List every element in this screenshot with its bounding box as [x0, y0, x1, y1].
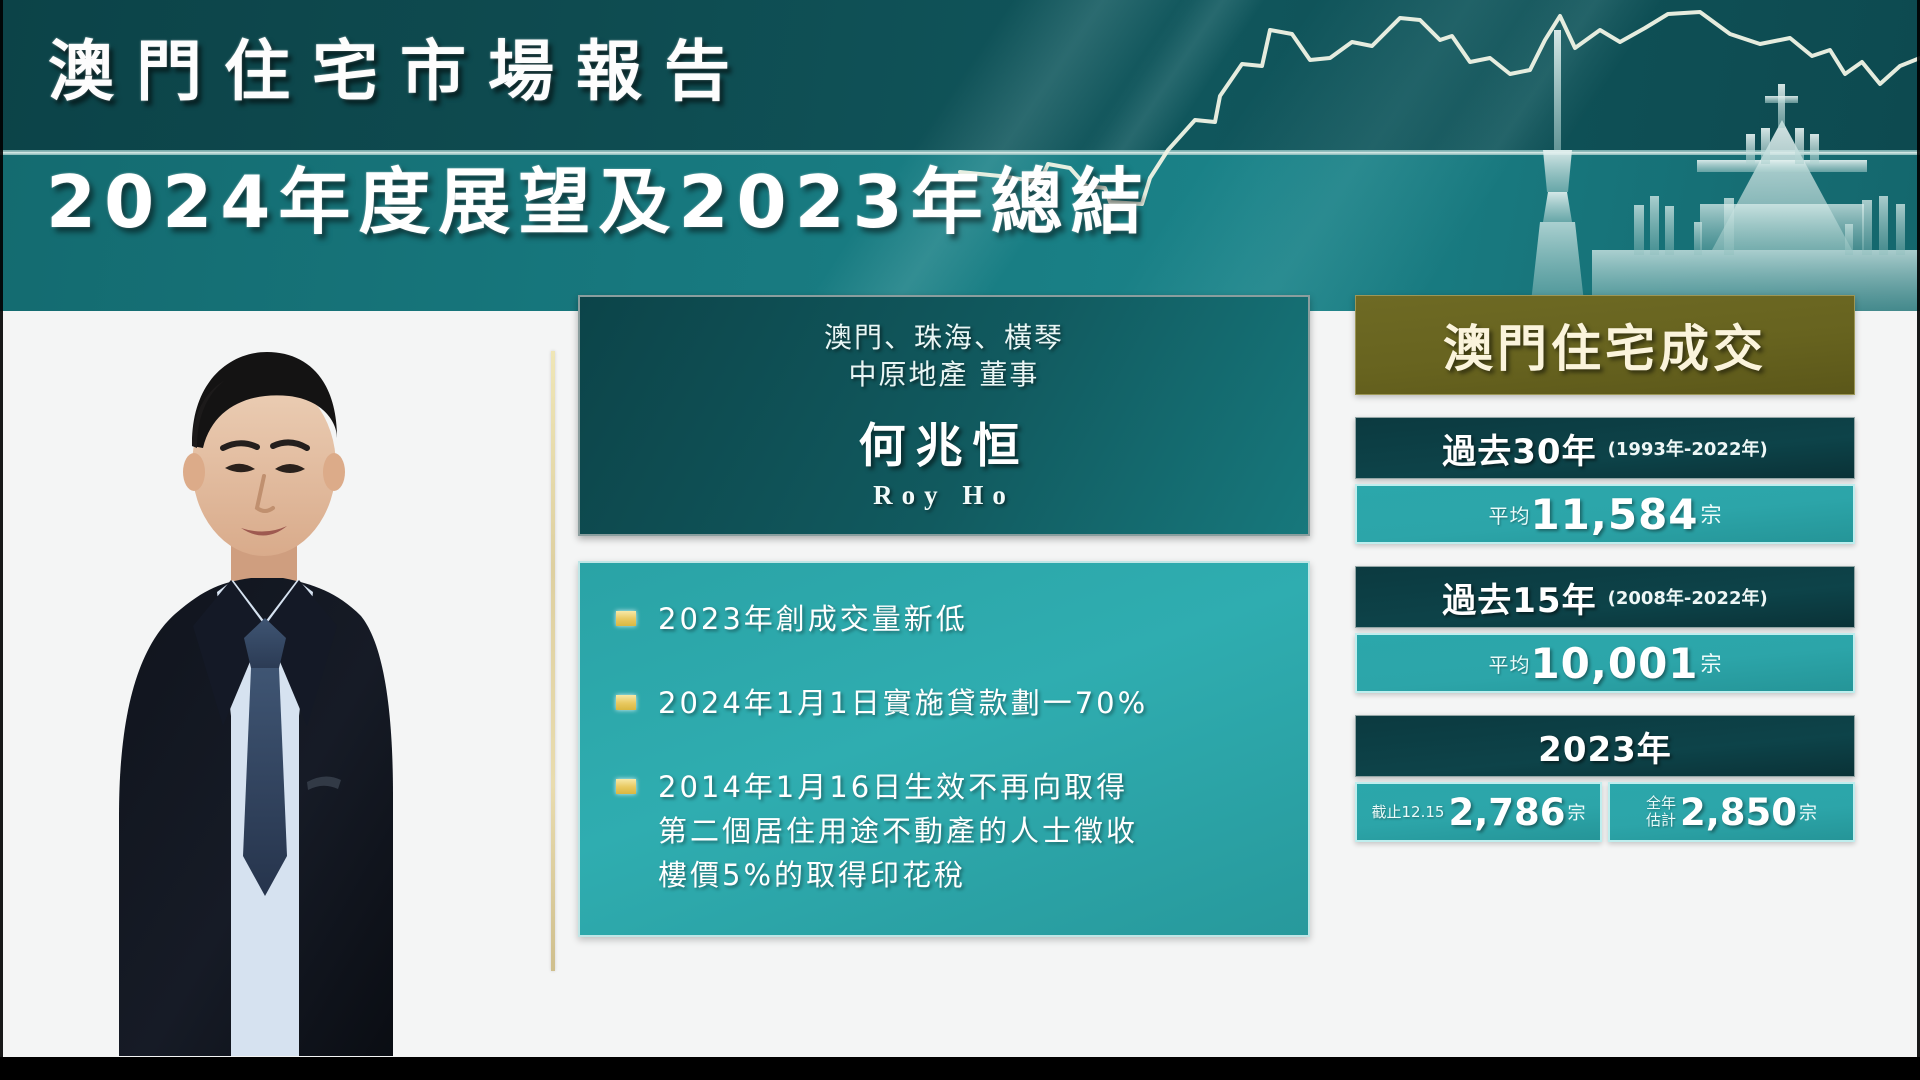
list-item: 2023年創成交量新低	[580, 597, 1308, 641]
page-title: 澳門住宅市場報告	[48, 18, 752, 114]
stat-group-30y: 過去30年 (1993年-2022年) 平均 11,584 宗	[1355, 417, 1855, 544]
list-item: 2014年1月16日生效不再向取得 第二個居住用途不動產的人士徵收 樓價5%的取…	[580, 765, 1308, 897]
stat-value-number: 10,001	[1530, 639, 1698, 688]
stat-period-label: 2023年	[1538, 722, 1672, 771]
stat-cell-label-line2: 估計	[1646, 812, 1676, 829]
speaker-org-line2: 中原地產 董事	[824, 357, 1064, 393]
stat-group-header: 過去15年 (2008年-2022年)	[1355, 566, 1855, 628]
stat-period-range: (2008年-2022年)	[1608, 584, 1768, 610]
stat-cell-unit: 宗	[1568, 799, 1586, 825]
stat-period-range: (1993年-2022年)	[1608, 435, 1768, 461]
stats-panel: 澳門住宅成交 過去30年 (1993年-2022年) 平均 11,584 宗 過…	[1355, 295, 1855, 842]
speaker-card: 澳門、珠海、橫琴 中原地產 董事 何兆恒 Roy Ho	[578, 295, 1310, 536]
stat-cell-label-line1: 截止12.15	[1372, 804, 1445, 821]
stat-value-row: 平均 11,584 宗	[1355, 484, 1855, 544]
letterbox-left	[0, 0, 3, 1080]
stat-group-header: 2023年	[1355, 715, 1855, 777]
stat-cell-label: 截止12.15	[1372, 804, 1445, 821]
ruins-of-st-pauls-silhouette	[1697, 84, 1867, 250]
slide-body: 澳門、珠海、橫琴 中原地產 董事 何兆恒 Roy Ho 2023年創成交量新低 …	[0, 311, 1920, 1057]
stat-value-unit: 宗	[1701, 648, 1722, 678]
stat-split-row: 截止12.15 2,786 宗 全年 估計 2,850 宗	[1355, 782, 1855, 842]
stat-value-label: 平均	[1488, 500, 1530, 529]
square-bullet-icon	[616, 611, 636, 626]
speaker-photo	[55, 296, 475, 1056]
stat-value-label: 平均	[1488, 649, 1530, 678]
stat-cell-unit: 宗	[1799, 799, 1817, 825]
speaker-name-en: Roy Ho	[873, 480, 1015, 511]
page-subtitle: 2024年度展望及2023年總結	[46, 143, 1151, 248]
key-points-card: 2023年創成交量新低 2024年1月1日實施貸款劃一70% 2014年1月16…	[578, 561, 1310, 937]
point-text: 2023年創成交量新低	[658, 597, 968, 641]
stat-value-row: 平均 10,001 宗	[1355, 633, 1855, 693]
stat-group-2023: 2023年 截止12.15 2,786 宗 全年 估計	[1355, 715, 1855, 842]
stat-group-header: 過去30年 (1993年-2022年)	[1355, 417, 1855, 479]
stat-cell-number: 2,786	[1448, 791, 1565, 834]
point-text: 2024年1月1日實施貸款劃一70%	[658, 681, 1148, 725]
stat-period-label: 過去30年	[1442, 424, 1596, 473]
square-bullet-icon	[616, 695, 636, 710]
slide-header: 澳門住宅市場報告 2024年度展望及2023年總結	[0, 0, 1920, 311]
square-bullet-icon	[616, 779, 636, 794]
stat-cell-forecast: 全年 估計 2,850 宗	[1608, 782, 1855, 842]
stat-group-15y: 過去15年 (2008年-2022年) 平均 10,001 宗	[1355, 566, 1855, 693]
speaker-org: 澳門、珠海、橫琴 中原地產 董事	[824, 320, 1064, 393]
macau-tower-silhouette	[1530, 30, 1585, 311]
stats-panel-title: 澳門住宅成交	[1355, 295, 1855, 395]
center-column: 澳門、珠海、橫琴 中原地產 董事 何兆恒 Roy Ho 2023年創成交量新低 …	[578, 295, 1306, 937]
speaker-name-zh: 何兆恒	[859, 407, 1030, 476]
stat-value-unit: 宗	[1701, 499, 1722, 529]
list-item: 2024年1月1日實施貸款劃一70%	[580, 681, 1308, 725]
stat-cell-number: 2,850	[1680, 791, 1797, 834]
speaker-org-line1: 澳門、珠海、橫琴	[824, 320, 1064, 356]
stat-cell-label-line1: 全年	[1646, 795, 1676, 812]
stat-cell-label: 全年 估計	[1646, 795, 1676, 829]
stat-period-label: 過去15年	[1442, 573, 1596, 622]
stat-cell-ytd: 截止12.15 2,786 宗	[1355, 782, 1602, 842]
point-text: 2014年1月16日生效不再向取得 第二個居住用途不動產的人士徵收 樓價5%的取…	[658, 765, 1138, 897]
speaker-portrait-image	[55, 296, 475, 1056]
gold-divider	[551, 351, 555, 971]
letterbox-bottom	[0, 1057, 1920, 1080]
slide-root: 澳門住宅市場報告 2024年度展望及2023年總結	[0, 0, 1920, 1080]
stat-value-number: 11,584	[1530, 490, 1698, 539]
stats-panel-title-text: 澳門住宅成交	[1443, 309, 1767, 381]
